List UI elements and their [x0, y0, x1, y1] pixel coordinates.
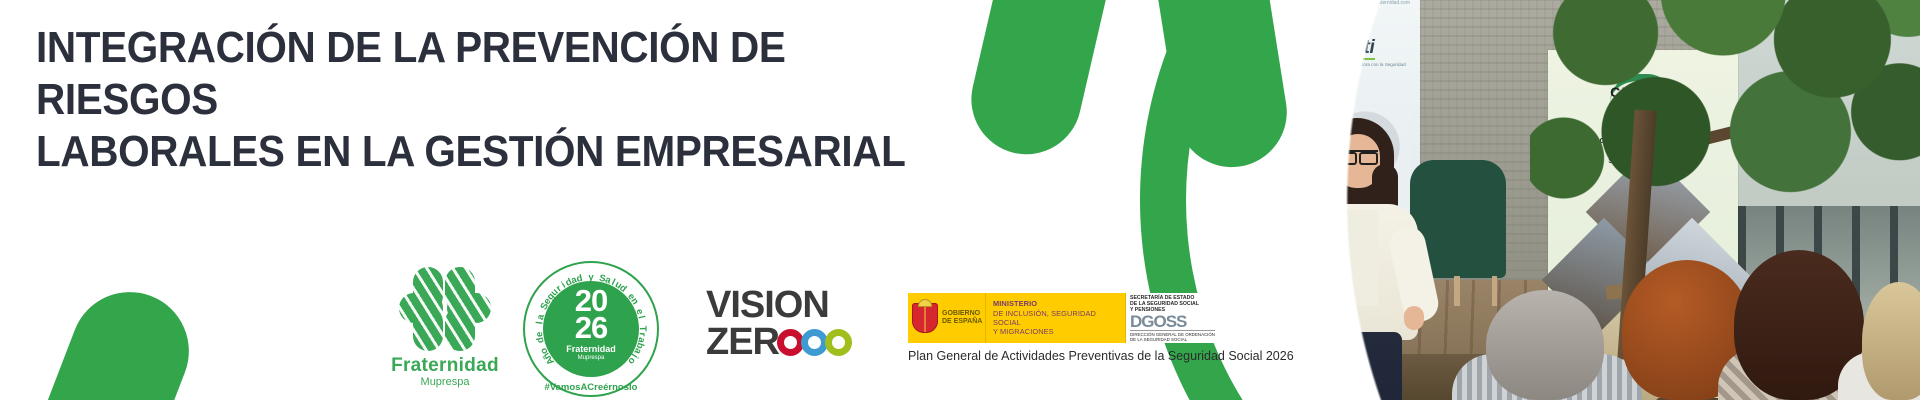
seal-year: 20 26	[543, 287, 639, 341]
fraternidad-muprespa-logo: Fraternidad Muprespa	[378, 267, 512, 395]
vision-zero-line2: ZER	[706, 323, 779, 361]
logo-strip: Fraternidad Muprespa Año de la Seguridad…	[0, 255, 1240, 395]
year-2026-seal: Año de la Seguridad y Salud en el Trabaj…	[523, 261, 659, 397]
glasses-icon	[1338, 150, 1378, 161]
ministry-label: MINISTERIO DE INCLUSIÓN, SEGURIDAD SOCIA…	[986, 293, 1126, 343]
vision-zero-logo: VISION ZER	[706, 287, 886, 373]
muprespa-wordmark: Muprespa	[378, 376, 512, 388]
rollup-headline: La Mutua que cuida de ti	[1246, 16, 1416, 58]
ministry-line1: MINISTERIO	[993, 299, 1125, 308]
audience-member-1	[1486, 290, 1604, 400]
plan-general-caption: Plan General de Actividades Preventivas …	[908, 349, 1218, 364]
gobierno-de-espana-label: GOBIERNO DE ESPAÑA	[942, 310, 982, 326]
clover-icon	[399, 267, 491, 351]
rollup-footnote: Mutua Colaboradora con la Seguridad Soci…	[1328, 62, 1406, 73]
ministry-line2: DE INCLUSIÓN, SEGURIDAD SOCIAL	[993, 309, 1125, 328]
event-banner: INTEGRACIÓN DE LA PREVENCIÓN DE RIESGOS …	[0, 0, 1920, 400]
ministry-line3: Y MIGRACIONES	[993, 327, 1125, 336]
speaker-person	[1294, 118, 1424, 400]
seal-brand: Fraternidad Muprespa	[543, 345, 639, 363]
audience-member-4	[1862, 282, 1920, 400]
government-logo-block: GOBIERNO DE ESPAÑA MINISTERIO DE INCLUSI…	[908, 293, 1218, 364]
vision-zero-line1: VISION	[706, 287, 886, 323]
seal-hashtag: #VamosACreérnoslo	[523, 382, 659, 393]
vision-zero-rings-icon	[780, 329, 852, 356]
orange-tree	[1530, 0, 1920, 290]
gobierno-de-espana-logo: GOBIERNO DE ESPAÑA	[908, 293, 986, 343]
rollup-url: www.fraternidad.com	[1363, 0, 1410, 6]
wooden-table	[1186, 246, 1302, 256]
banner-title: INTEGRACIÓN DE LA PREVENCIÓN DE RIESGOS …	[36, 22, 956, 178]
photo-scene: Fraternidad Muprespa www.fraternidad.com…	[1186, 0, 1920, 400]
fraternidad-wordmark: Fraternidad	[378, 355, 512, 377]
event-photo: Fraternidad Muprespa www.fraternidad.com…	[1186, 0, 1920, 400]
rollup-brand-small: Fraternidad Muprespa	[1248, 0, 1274, 12]
spain-coat-of-arms-icon	[912, 303, 938, 333]
government-yellow-bar: GOBIERNO DE ESPAÑA MINISTERIO DE INCLUSI…	[908, 293, 1218, 343]
